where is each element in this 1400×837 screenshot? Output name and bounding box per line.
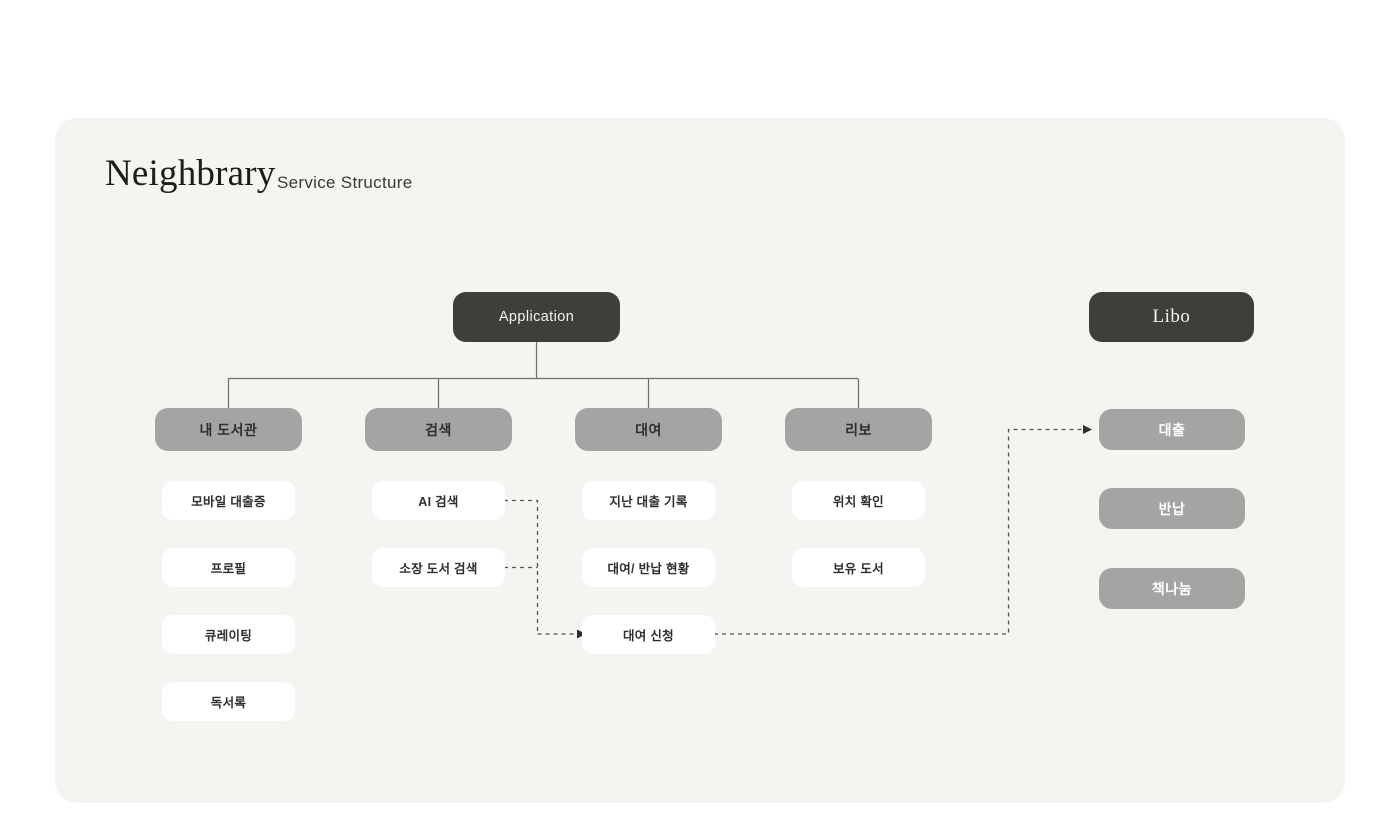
node-libo[interactable]: Libo: [1089, 292, 1254, 342]
node-category-rental[interactable]: 대여: [575, 408, 722, 451]
node-application[interactable]: Application: [453, 292, 620, 342]
node-leaf-profile[interactable]: 프로필: [162, 548, 295, 587]
node-libo-return[interactable]: 반납: [1099, 488, 1245, 529]
node-leaf-collection-search[interactable]: 소장 도서 검색: [372, 548, 505, 587]
node-libo-checkout[interactable]: 대출: [1099, 409, 1245, 450]
node-leaf-label: 보유 도서: [833, 558, 884, 577]
node-leaf-label: 위치 확인: [833, 491, 884, 510]
node-category-search[interactable]: 검색: [365, 408, 512, 451]
node-leaf-label: 독서록: [211, 692, 246, 711]
node-category-libo-menu[interactable]: 리보: [785, 408, 932, 451]
node-leaf-label: 큐레이팅: [205, 625, 252, 644]
node-leaf-loan-return-status[interactable]: 대여/ 반납 현황: [582, 548, 715, 587]
page-subtitle: Service Structure: [277, 173, 412, 193]
node-leaf-rental-request[interactable]: 대여 신청: [582, 615, 715, 654]
node-category-my-library-label: 내 도서관: [200, 420, 258, 440]
node-leaf-mobile-card[interactable]: 모바일 대출증: [162, 481, 295, 520]
node-leaf-label: 소장 도서 검색: [399, 558, 477, 577]
node-libo-action-label: 대출: [1159, 420, 1186, 440]
node-leaf-label: 대여/ 반납 현황: [607, 558, 689, 577]
node-libo-label: Libo: [1153, 306, 1191, 328]
diagram-canvas: Neighbrary Service Structure: [0, 0, 1400, 837]
node-category-search-label: 검색: [425, 420, 452, 440]
node-category-my-library[interactable]: 내 도서관: [155, 408, 302, 451]
node-libo-book-sharing[interactable]: 책나눔: [1099, 568, 1245, 609]
node-application-label: Application: [499, 309, 574, 325]
node-leaf-label: 모바일 대출증: [191, 491, 266, 510]
node-category-libo-menu-label: 리보: [845, 420, 872, 440]
node-leaf-reading-log[interactable]: 독서록: [162, 682, 295, 721]
node-leaf-location-check[interactable]: 위치 확인: [792, 481, 925, 520]
node-leaf-label: 프로필: [211, 558, 246, 577]
node-category-rental-label: 대여: [635, 420, 662, 440]
node-libo-action-label: 책나눔: [1152, 579, 1192, 599]
node-leaf-label: 대여 신청: [623, 625, 674, 644]
node-libo-action-label: 반납: [1159, 499, 1186, 519]
node-leaf-label: AI 검색: [418, 491, 458, 510]
node-leaf-curating[interactable]: 큐레이팅: [162, 615, 295, 654]
node-leaf-past-loans[interactable]: 지난 대출 기록: [582, 481, 715, 520]
brand-title: Neighbrary: [105, 155, 276, 192]
node-leaf-ai-search[interactable]: AI 검색: [372, 481, 505, 520]
node-leaf-label: 지난 대출 기록: [609, 491, 687, 510]
node-leaf-owned-books[interactable]: 보유 도서: [792, 548, 925, 587]
